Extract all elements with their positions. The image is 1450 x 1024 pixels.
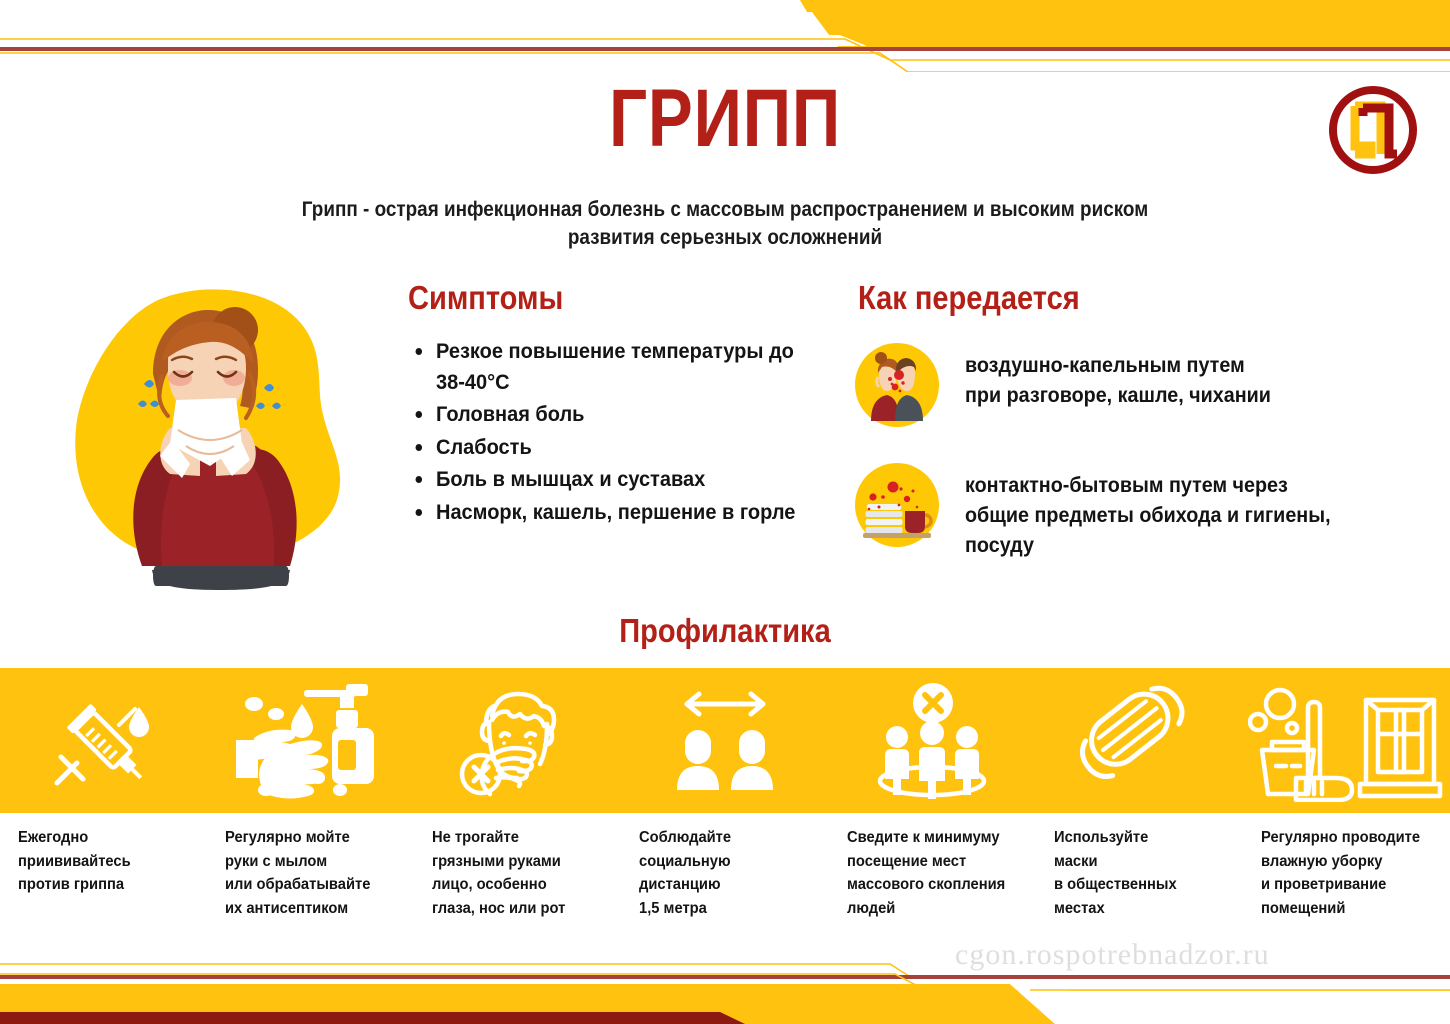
prevention-icon-cell <box>1036 668 1243 813</box>
prevention-caption-cell: Регулярно мойте руки с мылом или обрабат… <box>207 826 414 920</box>
symptoms-list: Резкое повышение температуры до 38-40°С … <box>404 336 836 529</box>
prevention-caption: Не трогайте грязными руками лицо, особен… <box>432 826 600 920</box>
cgon-logo <box>1325 82 1421 178</box>
prevention-icon-row <box>0 668 1450 813</box>
prevention-caption-cell: Не трогайте грязными руками лицо, особен… <box>414 826 621 920</box>
symptom-item: Головная боль <box>436 399 808 430</box>
infographic-poster: ГРИПП Грипп - острая инфекционная болезн… <box>0 0 1450 1024</box>
mop-bucket-window-icon <box>1248 680 1444 802</box>
prevention-caption-cell: Регулярно проводите влажную уборку и про… <box>1243 826 1450 920</box>
transmission-heading: Как передается <box>858 279 1080 317</box>
no-face-touching-icon <box>458 682 578 800</box>
symptom-item: Слабость <box>436 432 808 463</box>
prevention-icon-cell <box>1243 668 1450 813</box>
two-people-talking-droplets-icon <box>855 343 939 427</box>
prevention-caption-row: Ежегодно приививайтесь против гриппа Рег… <box>0 826 1450 920</box>
transmission-row: контактно-бытовым путем через общие пред… <box>855 463 1354 560</box>
top-decoration <box>0 0 1450 72</box>
prevention-icon-cell <box>0 668 207 813</box>
sneezing-woman-illustration <box>50 278 380 590</box>
symptom-item: Боль в мышцах и суставах <box>436 464 808 495</box>
syringe-vaccine-icon <box>43 685 165 797</box>
face-mask-icon <box>1075 680 1203 802</box>
prevention-caption: Соблюдайте социальную дистанцию 1,5 метр… <box>639 826 807 920</box>
prevention-heading: Профилактика <box>87 612 1363 650</box>
no-crowds-icon <box>867 681 997 801</box>
transmission-text: воздушно-капельным путем при разговоре, … <box>965 343 1271 411</box>
prevention-caption-cell: Ежегодно приививайтесь против гриппа <box>0 826 207 920</box>
prevention-icon-cell <box>829 668 1036 813</box>
page-subtitle: Грипп - острая инфекционная болезнь с ма… <box>275 196 1175 253</box>
symptoms-heading: Симптомы <box>408 279 563 317</box>
transmission-text: контактно-бытовым путем через общие пред… <box>965 463 1331 560</box>
prevention-caption-cell: Сведите к минимуму посещение мест массов… <box>829 826 1036 920</box>
prevention-caption-cell: Соблюдайте социальную дистанцию 1,5 метр… <box>621 826 828 920</box>
prevention-caption: Регулярно проводите влажную уборку и про… <box>1261 826 1429 920</box>
prevention-icon-cell <box>207 668 414 813</box>
prevention-icon-cell <box>414 668 621 813</box>
symptom-item: Резкое повышение температуры до 38-40°С <box>436 336 808 397</box>
prevention-caption-cell: Используйте маски в общественных местах <box>1036 826 1243 920</box>
prevention-icon-cell <box>621 668 828 813</box>
bottom-decoration <box>0 950 1450 1024</box>
dishes-mug-germs-icon <box>855 463 939 547</box>
page-title: ГРИПП <box>131 78 1320 160</box>
symptom-item: Насморк, кашель, першение в горле <box>436 497 808 528</box>
social-distance-icon <box>665 686 785 796</box>
transmission-row: воздушно-капельным путем при разговоре, … <box>855 343 1290 427</box>
prevention-caption: Сведите к минимуму посещение мест массов… <box>847 826 1015 920</box>
prevention-caption: Используйте маски в общественных местах <box>1054 826 1222 920</box>
prevention-caption: Ежегодно приививайтесь против гриппа <box>18 826 186 897</box>
prevention-caption: Регулярно мойте руки с мылом или обрабат… <box>225 826 393 920</box>
handwash-soap-icon <box>236 682 386 800</box>
